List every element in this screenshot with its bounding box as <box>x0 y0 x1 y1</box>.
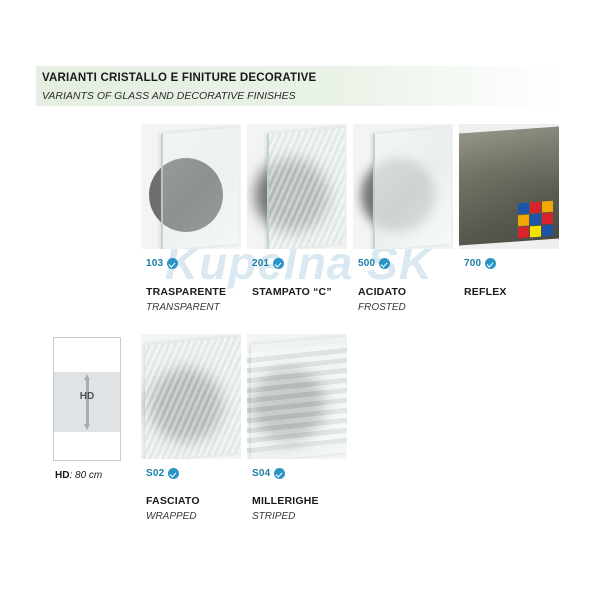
sample-name-it: REFLEX <box>464 286 507 298</box>
sample-name-en: FROSTED <box>358 302 406 313</box>
sample-image-trasparente <box>141 124 241 249</box>
glass-panel <box>267 127 345 249</box>
sample-code-row-s02: S02 <box>146 468 179 479</box>
sample-code: S04 <box>252 468 270 479</box>
color-swatch-grid <box>518 201 553 238</box>
sample-name-it: TRASPARENTE <box>146 286 226 298</box>
hd-caption-value: : 80 cm <box>69 470 102 481</box>
glass-panel <box>251 336 347 459</box>
sample-code: 700 <box>464 258 481 269</box>
sample-image-fasciato <box>141 334 241 459</box>
page-title: VARIANTI CRISTALLO E FINITURE DECORATIVE <box>42 72 316 84</box>
sample-code-row-700: 700 <box>464 258 496 269</box>
sample-code: 103 <box>146 258 163 269</box>
sample-code-row-500: 500 <box>358 258 390 269</box>
glass-panel <box>373 127 451 249</box>
sample-code: S02 <box>146 468 164 479</box>
document-page: VARIANTI CRISTALLO E FINITURE DECORATIVE… <box>0 0 600 600</box>
sample-code-row-s04: S04 <box>252 468 285 479</box>
hd-diagram: HD <box>53 337 121 461</box>
sample-name-en: WRAPPED <box>146 511 197 522</box>
hd-caption: HD: 80 cm <box>55 470 102 481</box>
sample-name-it: MILLERIGHE <box>252 495 319 507</box>
sample-image-stampato-c <box>247 124 347 249</box>
sample-name-en: TRANSPARENT <box>146 302 220 313</box>
sample-name-en: STRIPED <box>252 511 295 522</box>
sample-image-millerighe <box>247 334 347 459</box>
sample-name-it: ACIDATO <box>358 286 406 298</box>
check-icon <box>379 258 390 269</box>
check-icon <box>485 258 496 269</box>
sample-name-it: FASCIATO <box>146 495 200 507</box>
sample-image-acidato <box>353 124 453 249</box>
sample-code: 201 <box>252 258 269 269</box>
hd-inner-label: HD <box>54 391 120 402</box>
hd-dimension-arrow <box>84 374 91 430</box>
check-icon <box>167 258 178 269</box>
check-icon <box>273 258 284 269</box>
page-subtitle: VARIANTS OF GLASS AND DECORATIVE FINISHE… <box>42 90 296 102</box>
check-icon <box>274 468 285 479</box>
sample-code-row-103: 103 <box>146 258 178 269</box>
hd-caption-label: HD <box>55 470 69 481</box>
check-icon <box>168 468 179 479</box>
sample-image-reflex <box>459 124 559 249</box>
glass-panel <box>161 127 239 249</box>
sample-code: 500 <box>358 258 375 269</box>
sample-code-row-201: 201 <box>252 258 284 269</box>
sample-name-it: STAMPATO “C” <box>252 286 332 298</box>
glass-panel <box>145 336 241 459</box>
